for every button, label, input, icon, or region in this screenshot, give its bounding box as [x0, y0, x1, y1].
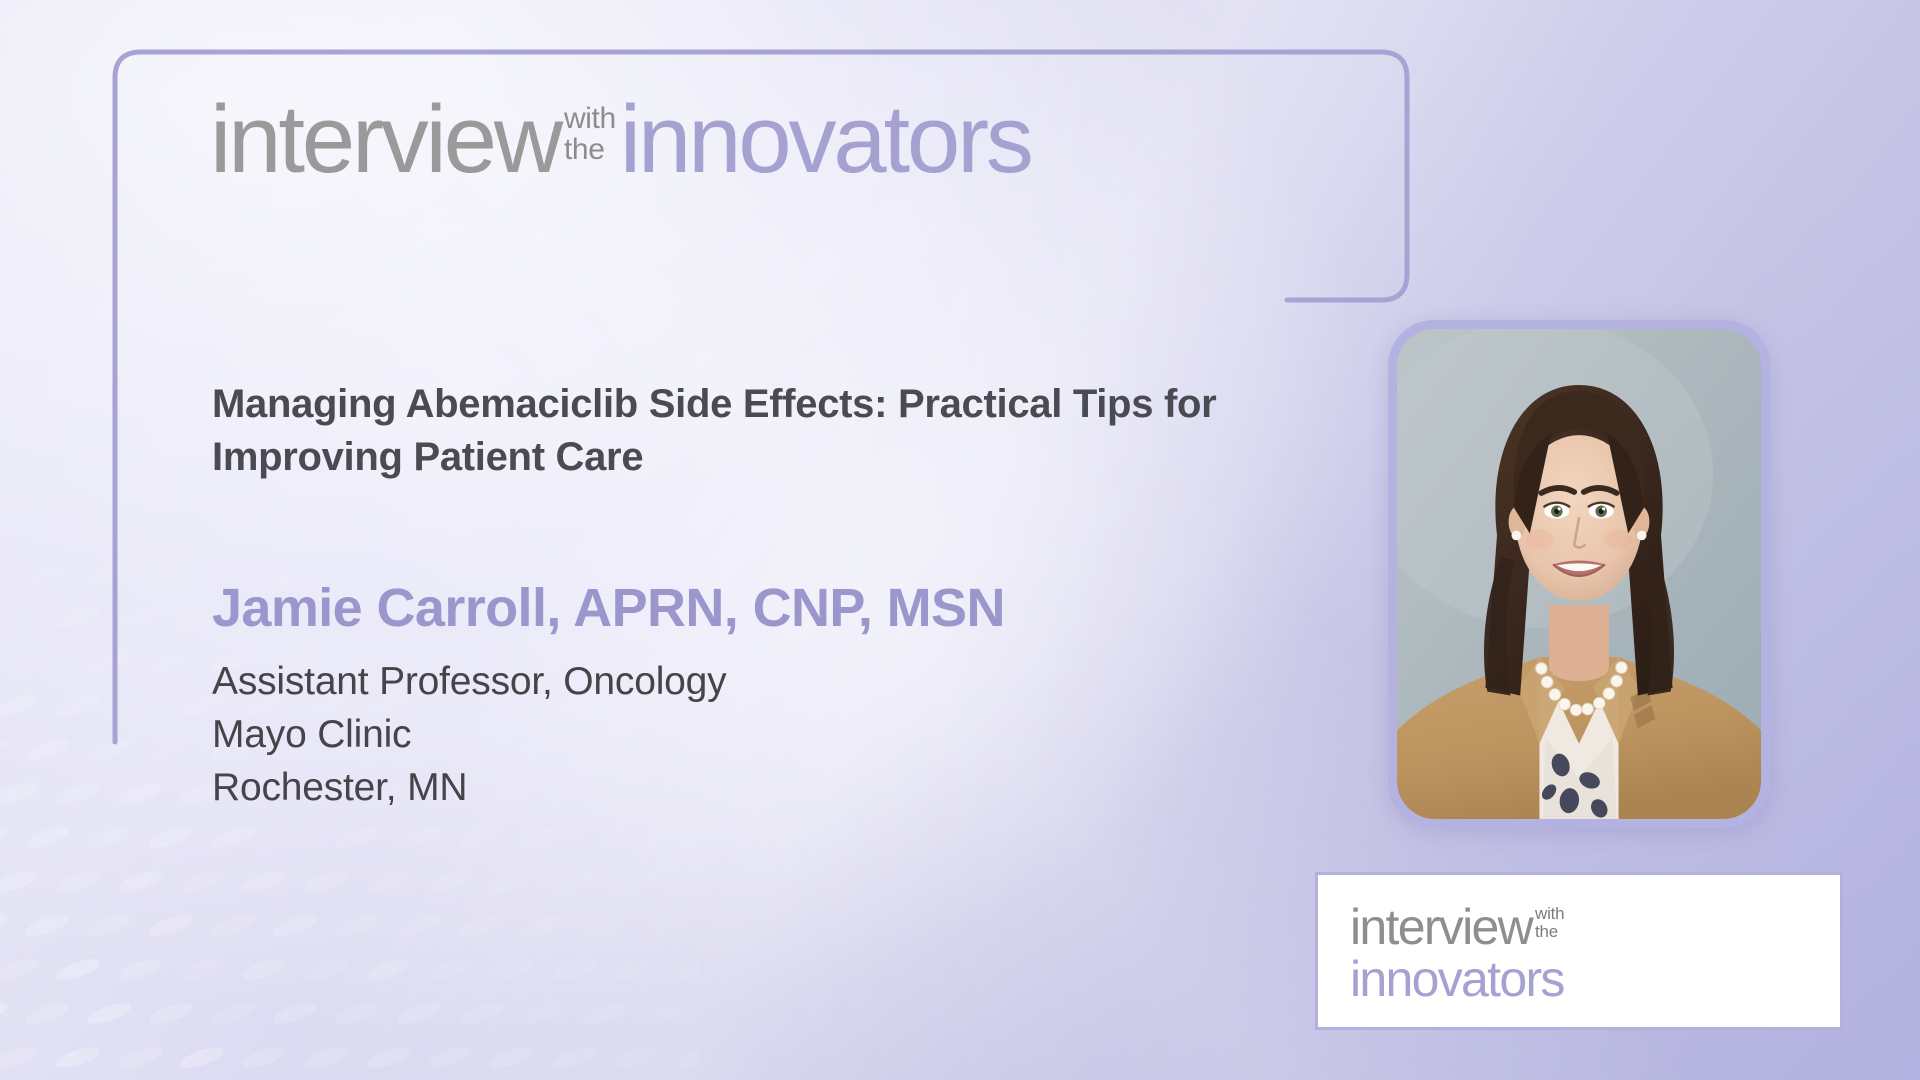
hero-logo-interview: interview: [210, 92, 560, 188]
footer-logo-interview: interview: [1350, 902, 1532, 952]
footer-logo-innovators: innovators: [1350, 954, 1564, 1004]
hero-logo-with: with: [564, 104, 616, 135]
speaker-portrait-image: [1397, 329, 1761, 819]
footer-logo-the: the: [1535, 923, 1564, 941]
footer-logo-card: interview with the innovators: [1315, 872, 1843, 1030]
speaker-name: Jamie Carroll, APRN, CNP, MSN: [212, 580, 1005, 637]
speaker-meta: Assistant Professor, Oncology Mayo Clini…: [212, 655, 726, 814]
hero-logo: interview with the innovators: [210, 92, 1031, 188]
speaker-location: Rochester, MN: [212, 761, 726, 814]
footer-logo: interview with the innovators: [1350, 902, 1564, 1004]
talk-title: Managing Abemaciclib Side Effects: Pract…: [212, 378, 1272, 484]
footer-logo-row-top: interview with the: [1350, 902, 1564, 952]
background-dot-pattern: [0, 560, 700, 1080]
slide-canvas: interview with the innovators Managing A…: [0, 0, 1920, 1080]
speaker-portrait: [1388, 320, 1770, 828]
hero-logo-withthe: with the: [564, 104, 616, 165]
hero-logo-innovators: innovators: [620, 92, 1031, 188]
speaker-role: Assistant Professor, Oncology: [212, 655, 726, 708]
footer-logo-with: with: [1535, 905, 1564, 923]
hero-logo-the: the: [564, 135, 616, 166]
speaker-organization: Mayo Clinic: [212, 708, 726, 761]
footer-logo-withthe: with the: [1535, 905, 1564, 941]
